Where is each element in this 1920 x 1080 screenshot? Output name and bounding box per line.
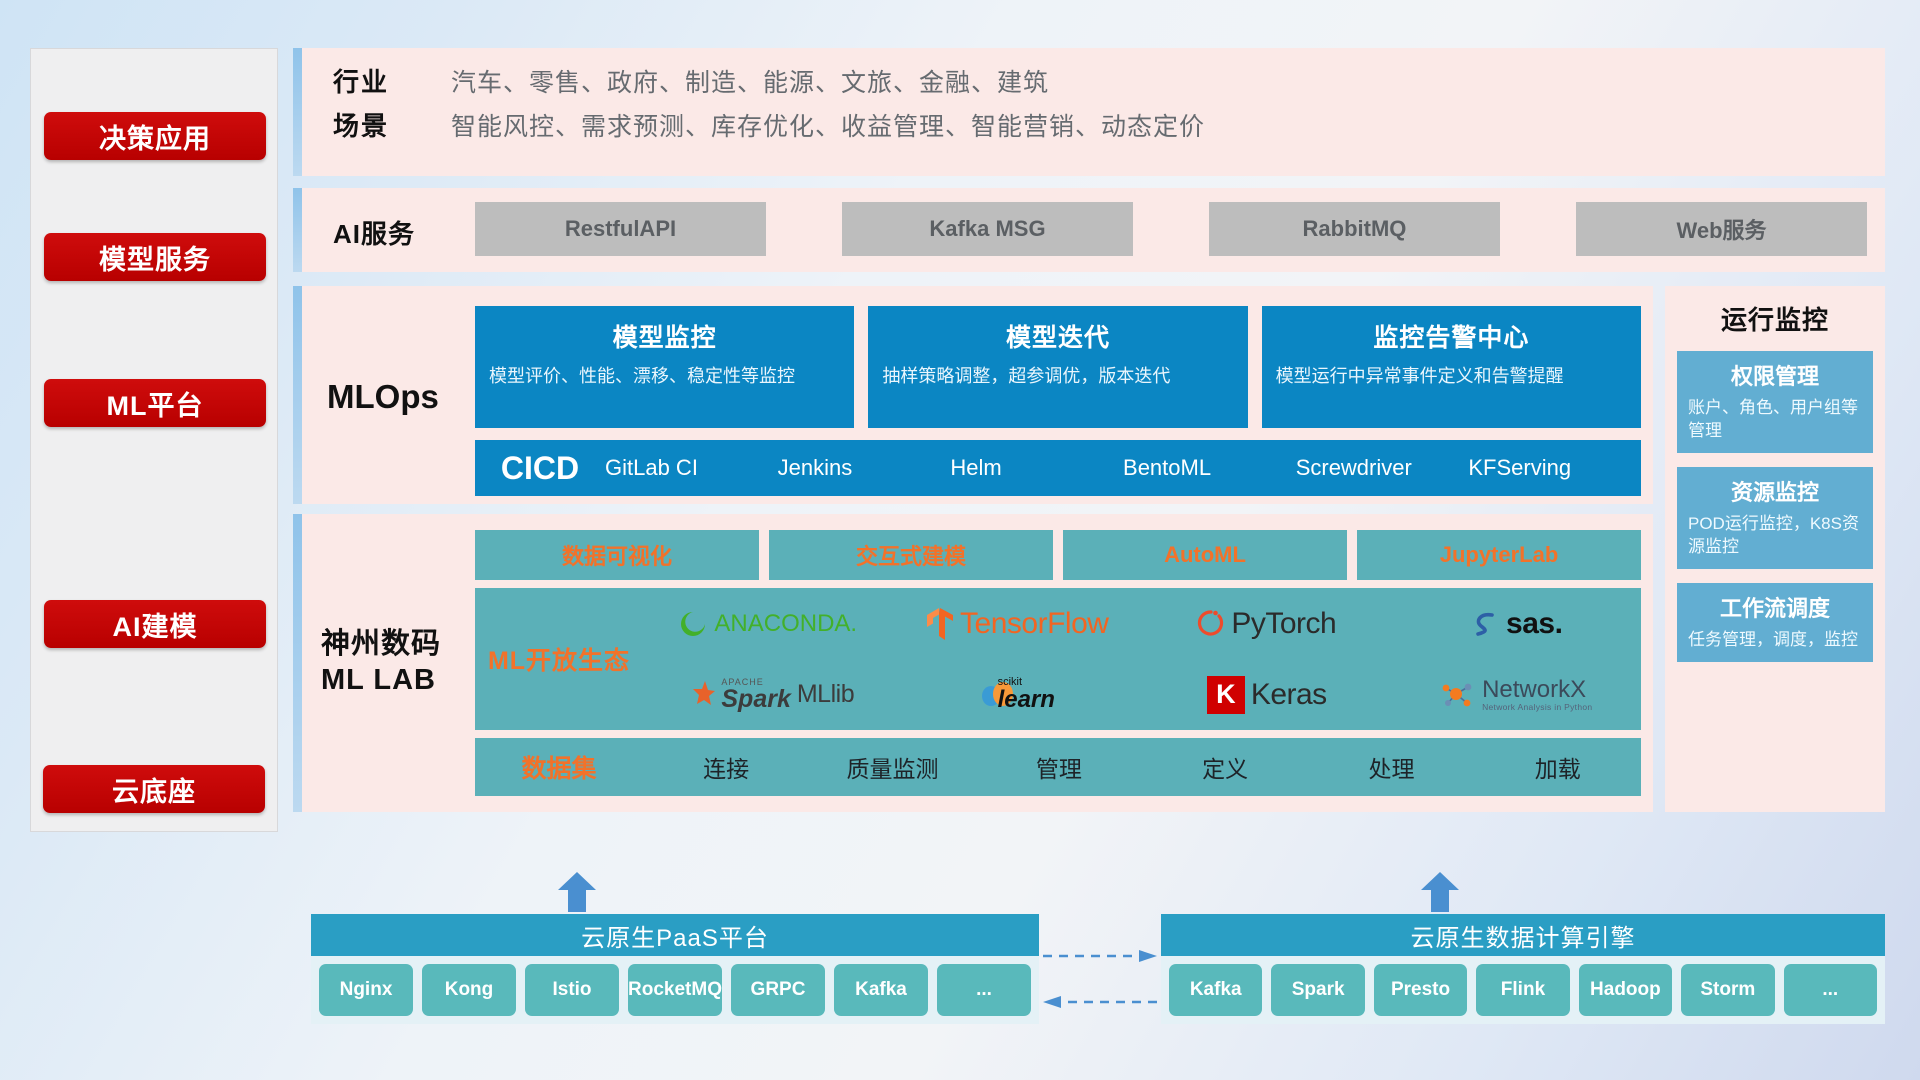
card-title: 资源监控 xyxy=(1688,475,1862,507)
tab-automl[interactable]: AutoML xyxy=(1063,530,1347,580)
mlops-card-model-iteration[interactable]: 模型迭代 抽样策略调整，超参调优，版本迭代 xyxy=(868,306,1247,428)
data-chip-kafka[interactable]: Kafka xyxy=(1169,964,1262,1016)
data-chip-storm[interactable]: Storm xyxy=(1681,964,1774,1016)
card-title: 权限管理 xyxy=(1688,359,1862,391)
card-desc: 抽样策略调整，超参调优，版本迭代 xyxy=(882,364,1233,388)
pytorch-mark-icon xyxy=(1197,608,1225,640)
card-desc: 模型运行中异常事件定义和告警提醒 xyxy=(1276,364,1627,388)
tab-data-visualization[interactable]: 数据可视化 xyxy=(475,530,759,580)
networkx-logo-text: NetworkX xyxy=(1482,677,1592,702)
card-title: 模型监控 xyxy=(489,318,840,354)
scenario-key: 场景 xyxy=(333,106,451,143)
tab-jupyterlab[interactable]: JupyterLab xyxy=(1357,530,1641,580)
dataset-item-connect[interactable]: 连接 xyxy=(643,750,809,784)
up-arrow-icon xyxy=(556,872,598,912)
learn-text: learn xyxy=(998,688,1055,712)
data-chip-spark[interactable]: Spark xyxy=(1271,964,1364,1016)
paas-chip-rocketmq[interactable]: RocketMQ xyxy=(628,964,722,1016)
card-desc: POD运行监控，K8S资源监控 xyxy=(1688,513,1862,559)
spark-logo-text: Spark xyxy=(721,687,790,712)
tensorflow-mark-icon xyxy=(926,607,954,641)
monitor-card-permission[interactable]: 权限管理 账户、角色、用户组等管理 xyxy=(1677,351,1873,453)
dataset-item-quality-monitor[interactable]: 质量监测 xyxy=(809,750,975,784)
scenario-value: 智能风控、需求预测、库存优化、收益管理、智能营销、动态定价 xyxy=(451,107,1205,143)
cloud-native-data-engine-group: 云原生数据计算引擎 Kafka Spark Presto Flink Hadoo… xyxy=(1161,914,1885,1024)
runtime-monitoring-title: 运行监控 xyxy=(1665,286,1885,337)
ml-open-ecosystem-label: ML开放生态 xyxy=(475,641,643,677)
sidebar-item-ml-platform[interactable]: ML平台 xyxy=(44,379,266,427)
paas-chip-istio[interactable]: Istio xyxy=(525,964,619,1016)
card-desc: 任务管理，调度，监控 xyxy=(1688,629,1862,652)
card-title: 工作流调度 xyxy=(1688,591,1862,623)
monitor-card-workflow[interactable]: 工作流调度 任务管理，调度，监控 xyxy=(1677,583,1873,662)
ml-open-ecosystem-box: ML开放生态 ANACONDA. TensorFlow xyxy=(475,588,1641,730)
cloud-native-data-engine-title: 云原生数据计算引擎 xyxy=(1161,914,1885,956)
ai-service-item-restfulapi[interactable]: RestfulAPI xyxy=(475,202,766,256)
cicd-label: CICD xyxy=(475,450,605,487)
sas-mark-icon xyxy=(1470,609,1500,639)
cloud-native-paas-title: 云原生PaaS平台 xyxy=(311,914,1039,956)
data-chip-more[interactable]: ... xyxy=(1784,964,1877,1016)
dataset-item-load[interactable]: 加载 xyxy=(1475,750,1641,784)
data-chip-hadoop[interactable]: Hadoop xyxy=(1579,964,1672,1016)
data-chip-flink[interactable]: Flink xyxy=(1476,964,1569,1016)
ml-lab-label-line2: ML LAB xyxy=(321,662,441,698)
scikit-learn-logo: scikit learn xyxy=(980,677,1055,712)
cicd-tool-helm[interactable]: Helm xyxy=(950,457,1123,479)
dataset-item-process[interactable]: 处理 xyxy=(1308,750,1474,784)
card-desc: 模型评价、性能、漂移、稳定性等监控 xyxy=(489,364,840,388)
cicd-tool-gitlab-ci[interactable]: GitLab CI xyxy=(605,457,778,479)
tensorflow-logo: TensorFlow xyxy=(926,607,1108,641)
ml-lab-label: 神州数码 ML LAB xyxy=(321,626,441,699)
sidebar-item-decision-app[interactable]: 决策应用 xyxy=(44,112,266,160)
cicd-tool-bentoml[interactable]: BentoML xyxy=(1123,457,1296,479)
industry-key: 行业 xyxy=(333,62,451,99)
ai-service-label: AI服务 xyxy=(333,214,415,251)
cicd-tool-kfserving[interactable]: KFServing xyxy=(1468,457,1641,479)
cicd-tool-jenkins[interactable]: Jenkins xyxy=(778,457,951,479)
keras-logo: K Keras xyxy=(1207,676,1327,714)
networkx-mark-icon xyxy=(1440,678,1476,710)
industry-value: 汽车、零售、政府、制造、能源、文旅、金融、建筑 xyxy=(451,63,1049,99)
anaconda-logo-text: ANACONDA. xyxy=(714,610,857,638)
data-chip-presto[interactable]: Presto xyxy=(1374,964,1467,1016)
ai-service-item-rabbitmq[interactable]: RabbitMQ xyxy=(1209,202,1500,256)
sas-logo: sas. xyxy=(1470,607,1562,641)
up-arrow-icon xyxy=(1419,872,1461,912)
band-accent-edge xyxy=(293,48,302,176)
tensorflow-logo-text: TensorFlow xyxy=(960,607,1108,641)
monitor-card-resource[interactable]: 资源监控 POD运行监控，K8S资源监控 xyxy=(1677,467,1873,569)
ai-service-item-web[interactable]: Web服务 xyxy=(1576,202,1867,256)
paas-chip-more[interactable]: ... xyxy=(937,964,1031,1016)
card-title: 模型迭代 xyxy=(882,318,1233,354)
paas-chip-nginx[interactable]: Nginx xyxy=(319,964,413,1016)
paas-chip-grpc[interactable]: GRPC xyxy=(731,964,825,1016)
anaconda-mark-icon xyxy=(678,609,708,639)
bidirectional-connector xyxy=(1039,940,1161,1022)
ml-lab-label-line1: 神州数码 xyxy=(321,626,441,662)
mlops-label: MLOps xyxy=(327,378,439,416)
sidebar-item-model-service[interactable]: 模型服务 xyxy=(44,233,266,281)
anaconda-logo: ANACONDA. xyxy=(678,609,857,639)
stage-label: ML平台 xyxy=(107,384,204,423)
tab-interactive-modeling[interactable]: 交互式建模 xyxy=(769,530,1053,580)
card-desc: 账户、角色、用户组等管理 xyxy=(1688,397,1862,443)
spark-mllib-logo: APACHE Spark MLlib xyxy=(681,678,854,712)
industry-row: 行业 汽车、零售、政府、制造、能源、文旅、金融、建筑 xyxy=(333,62,1885,99)
stage-label: 模型服务 xyxy=(99,238,211,277)
stage-label: AI建模 xyxy=(113,605,198,644)
card-title: 监控告警中心 xyxy=(1276,318,1627,354)
paas-chip-kong[interactable]: Kong xyxy=(422,964,516,1016)
dataset-item-manage[interactable]: 管理 xyxy=(976,750,1142,784)
cicd-tool-screwdriver[interactable]: Screwdriver xyxy=(1296,457,1469,479)
band-accent-edge xyxy=(293,188,302,272)
sidebar-item-ai-modeling[interactable]: AI建模 xyxy=(44,600,266,648)
paas-chip-kafka[interactable]: Kafka xyxy=(834,964,928,1016)
sas-logo-text: sas. xyxy=(1506,607,1562,641)
industry-scenario-band: 行业 汽车、零售、政府、制造、能源、文旅、金融、建筑 场景 智能风控、需求预测、… xyxy=(293,48,1885,176)
dataset-bar: 数据集 连接 质量监测 管理 定义 处理 加载 xyxy=(475,738,1641,796)
band-accent-edge xyxy=(293,514,302,812)
band-accent-edge xyxy=(293,286,302,504)
keras-logo-text: Keras xyxy=(1251,678,1327,712)
stage-label: 决策应用 xyxy=(99,117,211,156)
dataset-item-define[interactable]: 定义 xyxy=(1142,750,1308,784)
networkx-logo: NetworkX Network Analysis in Python xyxy=(1440,677,1592,711)
mlops-card-model-monitoring[interactable]: 模型监控 模型评价、性能、漂移、稳定性等监控 xyxy=(475,306,854,428)
cloud-native-paas-group: 云原生PaaS平台 Nginx Kong Istio RocketMQ GRPC… xyxy=(311,914,1039,1024)
stage-sidebar: 决策应用 模型服务 ML平台 AI建模 xyxy=(30,48,278,832)
mllib-logo-text: MLlib xyxy=(797,680,854,709)
cicd-bar: CICD GitLab CI Jenkins Helm BentoML Scre… xyxy=(475,440,1641,496)
networkx-tagline: Network Analysis in Python xyxy=(1482,703,1592,712)
scenario-row: 场景 智能风控、需求预测、库存优化、收益管理、智能营销、动态定价 xyxy=(333,106,1885,143)
keras-mark-icon: K xyxy=(1207,676,1245,714)
spark-star-icon xyxy=(681,678,715,712)
cloud-base-section: 云原生PaaS平台 Nginx Kong Istio RocketMQ GRPC… xyxy=(311,890,1885,1050)
dataset-label: 数据集 xyxy=(475,749,643,785)
pytorch-logo: PyTorch xyxy=(1197,607,1336,641)
pytorch-logo-text: PyTorch xyxy=(1231,607,1336,641)
ai-service-band: AI服务 RestfulAPI Kafka MSG RabbitMQ Web服务 xyxy=(293,188,1885,272)
ai-service-item-kafka-msg[interactable]: Kafka MSG xyxy=(842,202,1133,256)
mlops-band: MLOps 模型监控 模型评价、性能、漂移、稳定性等监控 模型迭代 抽样策略调整… xyxy=(293,286,1653,504)
sidebar-item-cloud-base[interactable]: 云底座 xyxy=(43,765,265,813)
runtime-monitoring-column: 运行监控 权限管理 账户、角色、用户组等管理 资源监控 POD运行监控，K8S资… xyxy=(1665,286,1885,812)
mlops-card-alert-center[interactable]: 监控告警中心 模型运行中异常事件定义和告警提醒 xyxy=(1262,306,1641,428)
stage-label: 云底座 xyxy=(112,770,196,809)
ml-lab-band: 神州数码 ML LAB 数据可视化 交互式建模 AutoML JupyterLa… xyxy=(293,514,1653,812)
